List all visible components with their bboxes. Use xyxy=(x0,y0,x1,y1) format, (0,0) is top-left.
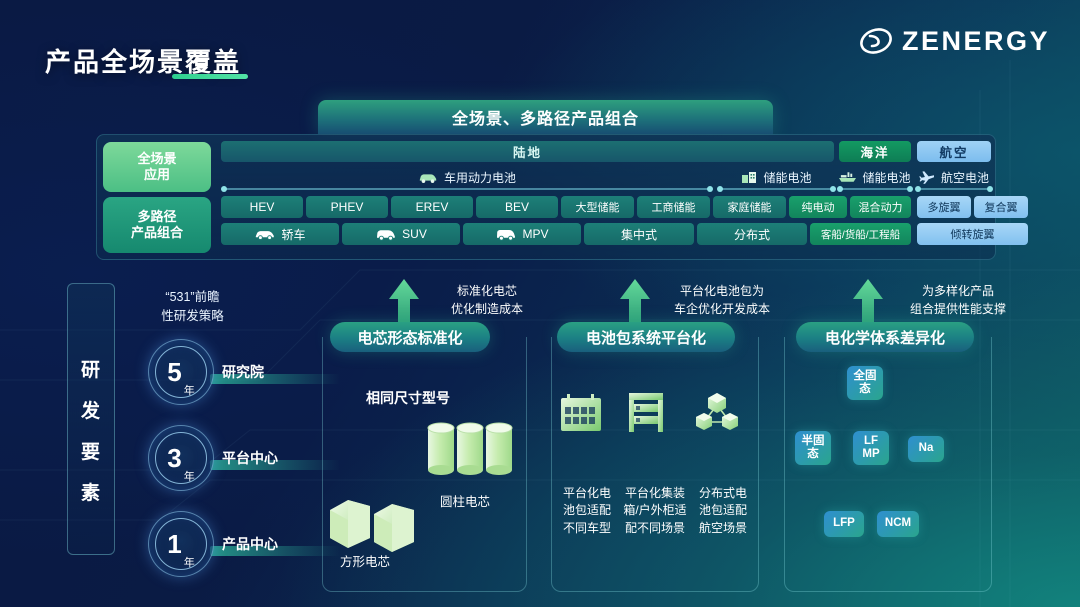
category-header-land[interactable]: 陆地 xyxy=(221,141,834,162)
pillar-2-caption-aviation-line2: 池包适配 xyxy=(690,502,756,519)
pillar-caption-line1: 平台化电池包为 xyxy=(662,282,782,300)
pillar-1-label-prismatic: 方形电芯 xyxy=(340,551,390,570)
suv-icon xyxy=(375,228,397,241)
side-label-application: 全场景 应用 xyxy=(103,142,211,192)
rd-label-char-4: 素 xyxy=(81,478,101,505)
pillar-caption-standardization: 标准化电芯 优化制造成本 xyxy=(432,282,542,318)
rd-node-research-institute[interactable]: 5 年 xyxy=(148,339,214,405)
tag-ci-storage[interactable]: 工商储能 xyxy=(637,196,710,218)
chemistry-tag-lfp[interactable]: LFP xyxy=(824,511,864,537)
application-rail-sea xyxy=(839,188,911,190)
pillar-caption-line1: 为多样化产品 xyxy=(896,282,1020,300)
pillar-2-caption-container-line1: 平台化集装 xyxy=(618,485,692,502)
matrix-body: 全场景 应用 多路径 产品组合 陆地 海洋 航空 车用动力电池 xyxy=(96,134,996,260)
tag-label-sedan: 轿车 xyxy=(281,226,305,243)
rd-node-name-product-center: 产品中心 xyxy=(222,534,278,554)
rd-node-value: 3 年 xyxy=(148,425,214,491)
tag-home-storage[interactable]: 家庭储能 xyxy=(713,196,786,218)
application-rail-land-storage xyxy=(719,188,834,190)
car-icon xyxy=(418,171,438,184)
chemistry-tag-lfmp[interactable]: LF MP xyxy=(853,431,889,465)
pillar-title-chemistry[interactable]: 电化学体系差异化 xyxy=(796,322,974,352)
side-label-product: 多路径 产品组合 xyxy=(103,197,211,253)
rd-label-char-1: 研 xyxy=(81,355,101,382)
rd-label-char-3: 要 xyxy=(81,437,101,464)
building-icon xyxy=(741,171,757,184)
pillar-caption-chemistry: 为多样化产品 组合提供性能支撑 xyxy=(896,282,1020,318)
pillar-2-caption-vehicle: 平台化电 池包适配 不同车型 xyxy=(554,485,620,537)
rd-node-unit: 年 xyxy=(184,382,195,405)
pillar-1-subtitle: 相同尺寸型号 xyxy=(366,388,450,408)
cylindrical-cells-graphic xyxy=(424,418,516,480)
side-label-application-line1: 全场景 xyxy=(137,151,176,167)
pillar-2-caption-aviation-line1: 分布式电 xyxy=(690,485,756,502)
tag-hev[interactable]: HEV xyxy=(221,196,303,218)
rd-node-value: 5 年 xyxy=(148,339,214,405)
application-cell-sea-storage-battery[interactable]: 储能电池 xyxy=(839,166,911,188)
rd-label-char-2: 发 xyxy=(81,396,101,423)
title-underline xyxy=(172,74,248,79)
pillar-2-caption-aviation-line3: 航空场景 xyxy=(690,520,756,537)
chemistry-tag-all-solid-state[interactable]: 全固 态 xyxy=(847,366,883,400)
tag-erev[interactable]: EREV xyxy=(391,196,473,218)
rd-node-platform-center[interactable]: 3 年 xyxy=(148,425,214,491)
sedan-icon xyxy=(254,228,276,240)
chemistry-tag-line2: MP xyxy=(862,448,879,461)
side-label-application-line2: 应用 xyxy=(144,167,170,183)
rd-strategy-text: “531”前瞻 性研发策略 xyxy=(135,288,250,327)
pillar-cell-platformization xyxy=(551,337,759,592)
tag-distributed[interactable]: 分布式 xyxy=(697,223,807,245)
zenergy-mark-icon xyxy=(859,24,893,58)
side-label-product-line1: 多路径 xyxy=(137,209,176,225)
pillar-title-platformization[interactable]: 电池包系统平台化 xyxy=(557,322,735,352)
tag-large-storage[interactable]: 大型储能 xyxy=(561,196,634,218)
brand-logo: ZENERGY xyxy=(859,24,1050,58)
pillar-2-caption-aviation: 分布式电 池包适配 航空场景 xyxy=(690,485,756,537)
plane-icon xyxy=(919,170,935,184)
brand-name: ZENERGY xyxy=(902,26,1050,57)
rack-cabinet-icon xyxy=(626,391,666,433)
tag-marine-vessels[interactable]: 客船/货船/工程船 xyxy=(810,223,911,245)
ship-icon xyxy=(839,171,856,183)
category-header-air[interactable]: 航空 xyxy=(917,141,991,162)
pillar-2-caption-vehicle-line2: 池包适配 xyxy=(554,502,620,519)
application-cell-vehicle-battery[interactable]: 车用动力电池 xyxy=(223,166,711,188)
pillar-2-caption-vehicle-line3: 不同车型 xyxy=(554,520,620,537)
pillar-2-caption-vehicle-line1: 平台化电 xyxy=(554,485,620,502)
pillar-2-caption-container-line3: 配不同场景 xyxy=(618,520,692,537)
prismatic-cells-graphic xyxy=(326,492,426,552)
rd-node-number: 3 xyxy=(167,443,181,474)
pillar-caption-line2: 车企优化开发成本 xyxy=(662,300,782,318)
chemistry-tag-ncm[interactable]: NCM xyxy=(877,511,919,537)
tag-suv[interactable]: SUV xyxy=(342,223,460,245)
mpv-icon xyxy=(495,228,517,241)
pillar-caption-line1: 标准化电芯 xyxy=(432,282,542,300)
application-label-aviation-battery: 航空电池 xyxy=(941,169,989,186)
application-rail-land-vehicle xyxy=(223,188,711,190)
distributed-nodes-icon xyxy=(694,392,740,434)
rd-node-unit: 年 xyxy=(184,554,195,577)
chemistry-tag-line1: 半固 xyxy=(802,435,825,448)
product-matrix: 全场景、多路径产品组合 全场景 应用 多路径 产品组合 陆地 海洋 航空 车用动… xyxy=(96,100,996,260)
rd-node-number: 5 xyxy=(167,357,181,388)
application-rail-air xyxy=(917,188,991,190)
module-grid-icon xyxy=(560,393,602,433)
chemistry-tag-line2: 态 xyxy=(859,383,871,396)
chemistry-tag-line1: 全固 xyxy=(854,370,877,383)
rd-node-name-research-institute: 研究院 xyxy=(222,362,264,382)
tag-multirotor[interactable]: 多旋翼 xyxy=(917,196,971,218)
tag-label-suv: SUV xyxy=(402,227,427,241)
rd-elements-label: 研 发 要 素 xyxy=(67,355,115,505)
pillar-caption-platformization: 平台化电池包为 车企优化开发成本 xyxy=(662,282,782,318)
application-cell-land-storage-battery[interactable]: 储能电池 xyxy=(719,166,834,188)
chemistry-tag-line1: LF xyxy=(864,435,878,448)
pillar-caption-line2: 优化制造成本 xyxy=(432,300,542,318)
pillar-caption-line2: 组合提供性能支撑 xyxy=(896,300,1020,318)
chemistry-tag-semi-solid-state[interactable]: 半固 态 xyxy=(795,431,831,465)
tag-phev[interactable]: PHEV xyxy=(306,196,388,218)
pillar-2-caption-container: 平台化集装 箱/户外柜适 配不同场景 xyxy=(618,485,692,537)
rd-strategy-line2: 性研发策略 xyxy=(135,307,250,326)
tag-tiltrotor[interactable]: 倾转旋翼 xyxy=(917,223,1028,245)
tag-label-mpv: MPV xyxy=(522,227,548,241)
tag-compound-wing[interactable]: 复合翼 xyxy=(974,196,1028,218)
application-cell-aviation-battery[interactable]: 航空电池 xyxy=(917,166,991,188)
pillar-1-label-cylindrical: 圆柱电芯 xyxy=(440,491,490,510)
tag-pure-electric[interactable]: 纯电动 xyxy=(789,196,847,218)
tag-sedan[interactable]: 轿车 xyxy=(221,223,339,245)
matrix-banner-title: 全场景、多路径产品组合 xyxy=(318,100,773,134)
pillar-2-caption-container-line2: 箱/户外柜适 xyxy=(618,502,692,519)
rd-node-unit: 年 xyxy=(184,468,195,491)
rd-node-product-center[interactable]: 1 年 xyxy=(148,511,214,577)
rd-strategy-line1: “531”前瞻 xyxy=(135,288,250,307)
side-label-product-line2: 产品组合 xyxy=(131,225,183,241)
application-label-land-storage-battery: 储能电池 xyxy=(763,169,811,186)
chemistry-tag-na[interactable]: Na xyxy=(908,436,944,462)
rd-node-number: 1 xyxy=(167,529,181,560)
application-label-sea-storage-battery: 储能电池 xyxy=(862,169,910,186)
application-label-vehicle-battery: 车用动力电池 xyxy=(444,169,516,186)
tag-bev[interactable]: BEV xyxy=(476,196,558,218)
pillar-title-standardization[interactable]: 电芯形态标准化 xyxy=(330,322,490,352)
tag-centralized[interactable]: 集中式 xyxy=(584,223,694,245)
category-header-sea[interactable]: 海洋 xyxy=(839,141,911,162)
chemistry-tag-line2: 态 xyxy=(807,448,819,461)
tag-mpv[interactable]: MPV xyxy=(463,223,581,245)
rd-node-name-platform-center: 平台中心 xyxy=(222,448,278,468)
rd-node-value: 1 年 xyxy=(148,511,214,577)
tag-hybrid[interactable]: 混合动力 xyxy=(850,196,911,218)
